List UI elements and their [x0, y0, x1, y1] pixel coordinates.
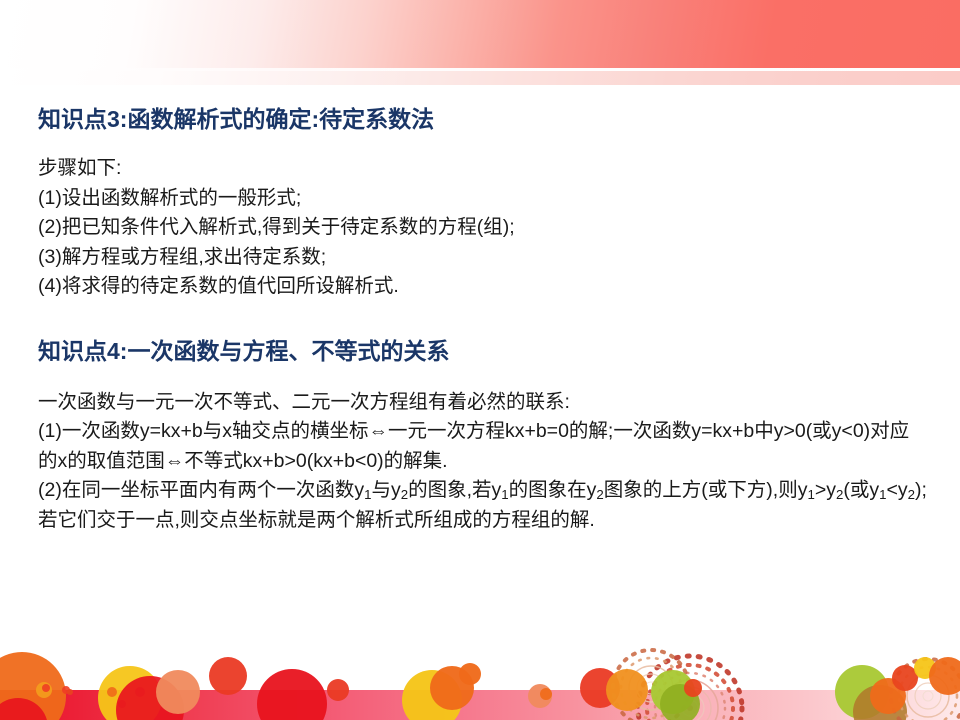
header-gradient-band — [0, 0, 960, 68]
section-2-heading: 知识点4:一次函数与方程、不等式的关系 — [38, 336, 928, 366]
section-1-line-1: (1)设出函数解析式的一般形式; — [38, 184, 928, 214]
slide-content: 知识点3:函数解析式的确定:待定系数法 步骤如下: (1)设出函数解析式的一般形… — [38, 104, 928, 535]
section-2-line-0: 一次函数与一元一次不等式、二元一次方程组有着必然的联系: — [38, 388, 928, 418]
section-1-line-4: (4)将求得的待定系数的值代回所设解析式. — [38, 272, 928, 302]
section-1-line-2: (2)把已知条件代入解析式,得到关于待定系数的方程(组); — [38, 213, 928, 243]
section-2-line-2: (2)在同一坐标平面内有两个一次函数y1与y2的图象,若y1的图象在y2图象的上… — [38, 476, 928, 535]
footer-decoration — [0, 600, 960, 720]
slide: 知识点3:函数解析式的确定:待定系数法 步骤如下: (1)设出函数解析式的一般形… — [0, 0, 960, 720]
deco-circle — [606, 669, 648, 711]
section-1-body: 步骤如下: (1)设出函数解析式的一般形式; (2)把已知条件代入解析式,得到关… — [38, 154, 928, 302]
footer-circles-graphic-right — [0, 600, 960, 720]
header-underglow-band — [0, 71, 960, 85]
section-1-line-0: 步骤如下: — [38, 154, 928, 184]
section-2-body: 一次函数与一元一次不等式、二元一次方程组有着必然的联系: (1)一次函数y=kx… — [38, 388, 928, 536]
section-1-heading: 知识点3:函数解析式的确定:待定系数法 — [38, 104, 928, 134]
section-2-line-1: (1)一次函数y=kx+b与x轴交点的横坐标⇔一元一次方程kx+b=0的解;一次… — [38, 417, 928, 476]
section-1-line-3: (3)解方程或方程组,求出待定系数; — [38, 243, 928, 273]
deco-circle — [684, 679, 702, 697]
